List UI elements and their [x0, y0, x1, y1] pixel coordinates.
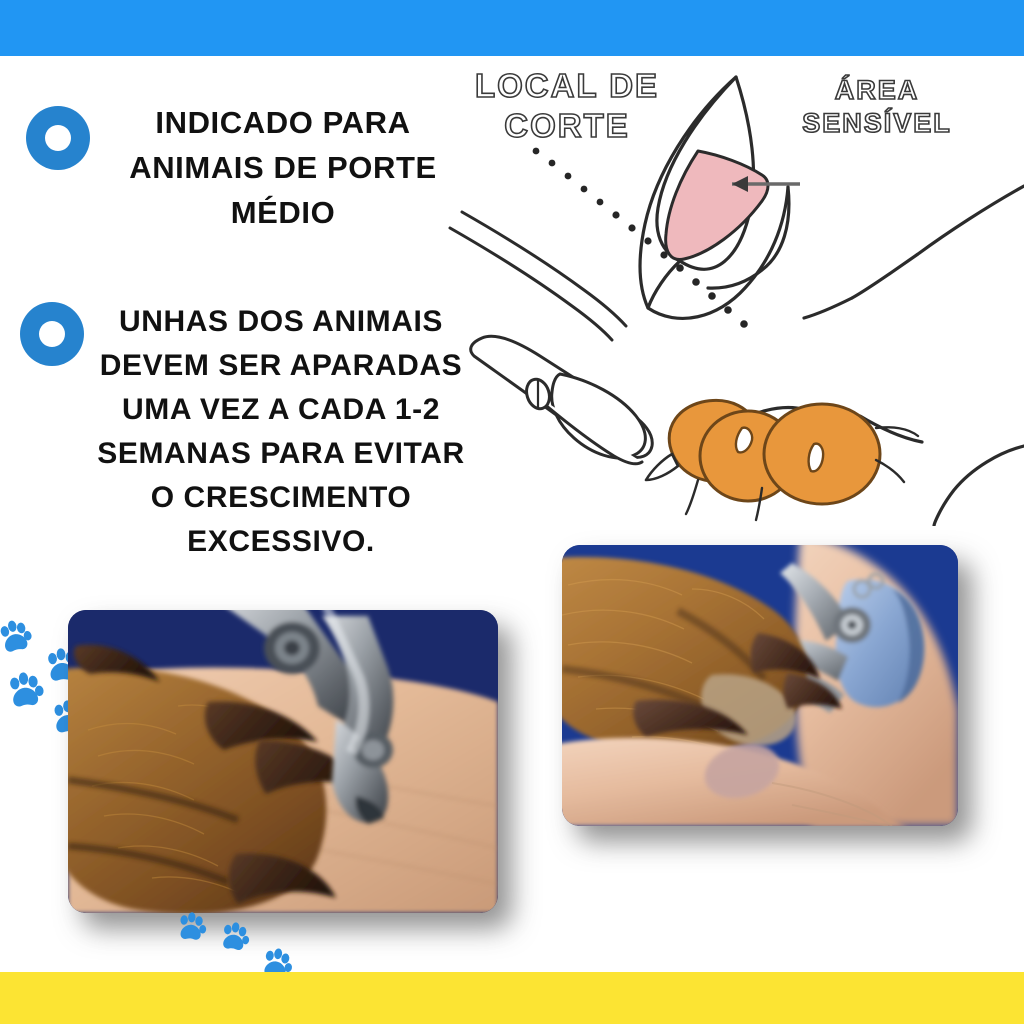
photo-blue-clipper-on-paw	[562, 545, 958, 826]
clipper-illustration	[450, 212, 652, 464]
bullet-item-1: INDICADO PARA ANIMAIS DE PORTE MÉDIO	[26, 100, 476, 235]
photo-clipping-claw-closeup	[68, 610, 498, 913]
label-local-de-corte: LOCAL DE CORTE	[452, 66, 682, 147]
label-area-sensivel: ÁREA SENSÍVEL	[772, 74, 982, 140]
paw-print-icon	[2, 670, 48, 716]
top-blue-bar	[0, 0, 1024, 56]
paw-print-icon	[173, 911, 209, 947]
paw-print-icon	[215, 920, 253, 958]
paw-print-icon	[0, 616, 38, 661]
bullet-1-text: INDICADO PARA ANIMAIS DE PORTE MÉDIO	[98, 100, 468, 235]
poster-root: LOCAL DE CORTE ÁREA SENSÍVEL INDICADO PA…	[0, 0, 1024, 1024]
blue-donut-bullet-icon	[20, 302, 84, 366]
bottom-yellow-bar	[0, 972, 1024, 1024]
bullet-2-text: UNHAS DOS ANIMAIS DEVEM SER APARADAS UMA…	[90, 300, 472, 564]
nail-trim-diagram: LOCAL DE CORTE ÁREA SENSÍVEL	[440, 56, 1024, 526]
bullet-item-2: UNHAS DOS ANIMAIS DEVEM SER APARADAS UMA…	[20, 300, 480, 564]
blue-donut-bullet-icon	[26, 106, 90, 170]
